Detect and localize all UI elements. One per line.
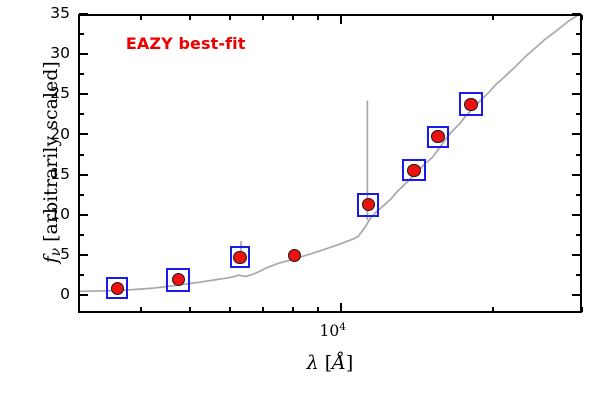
y-axis-tick-label: 35 — [26, 6, 70, 22]
x-axis-tick — [492, 15, 494, 20]
x-axis-tick — [340, 303, 342, 312]
y-axis-tick-label: 0 — [26, 287, 70, 303]
x-axis-tick — [229, 15, 231, 20]
y-axis-tick — [79, 194, 84, 196]
x-axis-tick — [340, 15, 342, 24]
y-axis-tick — [572, 294, 581, 296]
y-axis-tick-label: 30 — [26, 46, 70, 62]
photometry-point[interactable] — [233, 251, 246, 264]
y-axis-tick — [79, 53, 88, 55]
y-axis-tick — [576, 154, 581, 156]
x-axis-tick — [140, 307, 142, 312]
y-axis-tick-label: 15 — [26, 167, 70, 183]
y-axis-tick — [572, 13, 581, 15]
y-axis-tick — [576, 33, 581, 35]
x-axis-tick — [140, 15, 142, 20]
plot-clip — [80, 16, 580, 311]
x-axis-tick — [581, 307, 583, 312]
x-axis-title-lambda: λ — [307, 352, 319, 374]
x-axis-tick — [189, 15, 191, 20]
y-axis-tick — [572, 254, 581, 256]
y-axis-tick — [572, 93, 581, 95]
y-axis-tick — [79, 274, 84, 276]
y-axis-tick — [79, 234, 84, 236]
x-tick-mantissa: 10 — [320, 322, 340, 340]
y-axis-tick — [79, 33, 84, 35]
x-axis-title-angstrom: Å — [332, 352, 346, 374]
photometry-point[interactable] — [172, 273, 185, 286]
y-axis-tick — [79, 174, 88, 176]
y-axis-tick — [79, 133, 88, 135]
x-axis-tick-label: 104 — [320, 321, 346, 340]
photometry-point[interactable] — [407, 164, 420, 177]
y-axis-tick-label: 20 — [26, 127, 70, 143]
figure-canvas: fν [arbitrarily scaled] λ [Å] EAZY best-… — [0, 0, 600, 400]
y-axis-tick-label: 25 — [26, 86, 70, 102]
photometry-point[interactable] — [431, 130, 444, 143]
x-axis-tick — [317, 307, 319, 312]
emission-spike-group — [241, 100, 367, 260]
x-axis-tick — [492, 307, 494, 312]
y-axis-tick — [79, 13, 88, 15]
y-axis-tick — [79, 93, 88, 95]
y-axis-tick — [79, 214, 88, 216]
x-axis-tick — [262, 307, 264, 312]
y-axis-tick — [572, 174, 581, 176]
best-fit-annotation: EAZY best-fit — [126, 34, 246, 53]
y-axis-tick — [576, 73, 581, 75]
y-axis-tick — [576, 234, 581, 236]
y-axis-tick — [572, 133, 581, 135]
x-axis-tick — [189, 307, 191, 312]
x-axis-tick — [292, 307, 294, 312]
y-axis-tick — [79, 73, 84, 75]
x-axis-tick — [581, 15, 583, 20]
y-axis-tick — [79, 113, 84, 115]
plot-area: EAZY best-fit — [78, 14, 582, 313]
x-axis-title: λ [Å] — [78, 352, 582, 374]
x-axis-tick — [317, 15, 319, 20]
y-axis-tick-label: 5 — [26, 247, 70, 263]
sed-plot-svg — [80, 16, 580, 311]
x-tick-exponent: 4 — [339, 321, 346, 333]
x-axis-tick — [262, 15, 264, 20]
sed-template-curve — [80, 16, 580, 291]
y-axis-tick — [572, 53, 581, 55]
x-axis-title-close: ] — [346, 352, 353, 374]
y-axis-tick-label: 10 — [26, 207, 70, 223]
y-axis-tick — [79, 254, 88, 256]
y-axis-tick — [572, 214, 581, 216]
y-axis-tick — [576, 194, 581, 196]
photometry-point[interactable] — [111, 282, 124, 295]
x-axis-tick — [292, 15, 294, 20]
x-axis-tick — [229, 307, 231, 312]
y-axis-tick — [576, 274, 581, 276]
y-axis-tick — [79, 294, 88, 296]
y-axis-tick — [576, 113, 581, 115]
y-axis-tick — [79, 154, 84, 156]
photometry-point[interactable] — [464, 98, 477, 111]
